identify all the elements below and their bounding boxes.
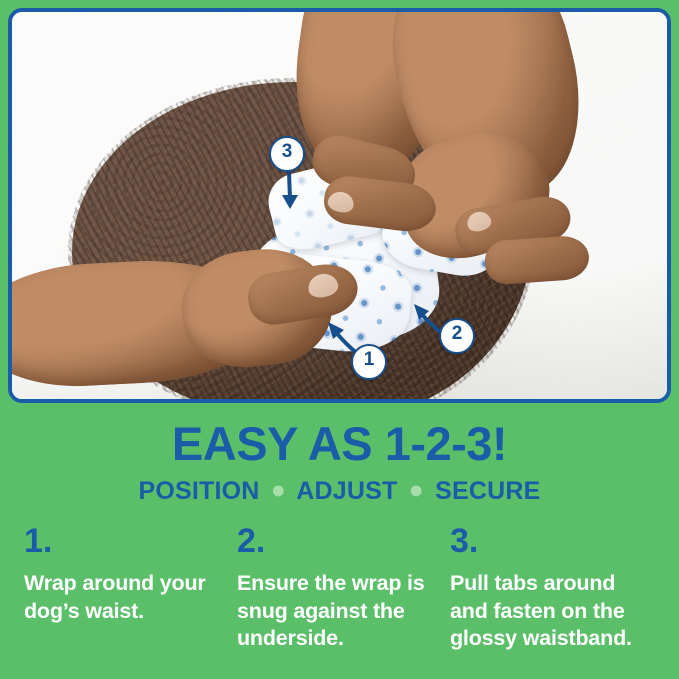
subhead-part-position: POSITION <box>139 477 260 505</box>
steps-list: 1. Wrap around your dog’s waist. 2. Ensu… <box>24 524 663 653</box>
subhead-part-adjust: ADJUST <box>296 477 397 505</box>
step-3-number: 3. <box>450 524 649 558</box>
subhead-separator-dot: ● <box>267 476 290 504</box>
callout-1: 1 <box>351 344 387 380</box>
photo-scene: 3 1 2 <box>12 12 667 399</box>
step-3: 3. Pull tabs around and fasten on the gl… <box>450 524 663 653</box>
subhead: POSITION ● ADJUST ● SECURE <box>0 478 679 504</box>
photo-panel: 3 1 2 <box>8 8 671 403</box>
callout-2: 2 <box>439 318 475 354</box>
product-instruction-graphic: 3 1 2 EASY AS 1-2-3! POSITION ● ADJUST ●… <box>0 0 679 679</box>
step-2: 2. Ensure the wrap is snug against the u… <box>237 524 450 653</box>
subhead-separator-dot: ● <box>405 476 428 504</box>
step-1-number: 1. <box>24 524 223 558</box>
step-1-text: Wrap around your dog’s waist. <box>24 570 223 625</box>
step-1: 1. Wrap around your dog’s waist. <box>24 524 237 653</box>
callout-3: 3 <box>269 136 305 172</box>
step-2-number: 2. <box>237 524 436 558</box>
step-2-text: Ensure the wrap is snug against the unde… <box>237 570 436 653</box>
step-3-text: Pull tabs around and fasten on the gloss… <box>450 570 649 653</box>
headline: EASY AS 1-2-3! <box>0 420 679 467</box>
subhead-part-secure: SECURE <box>435 477 540 505</box>
